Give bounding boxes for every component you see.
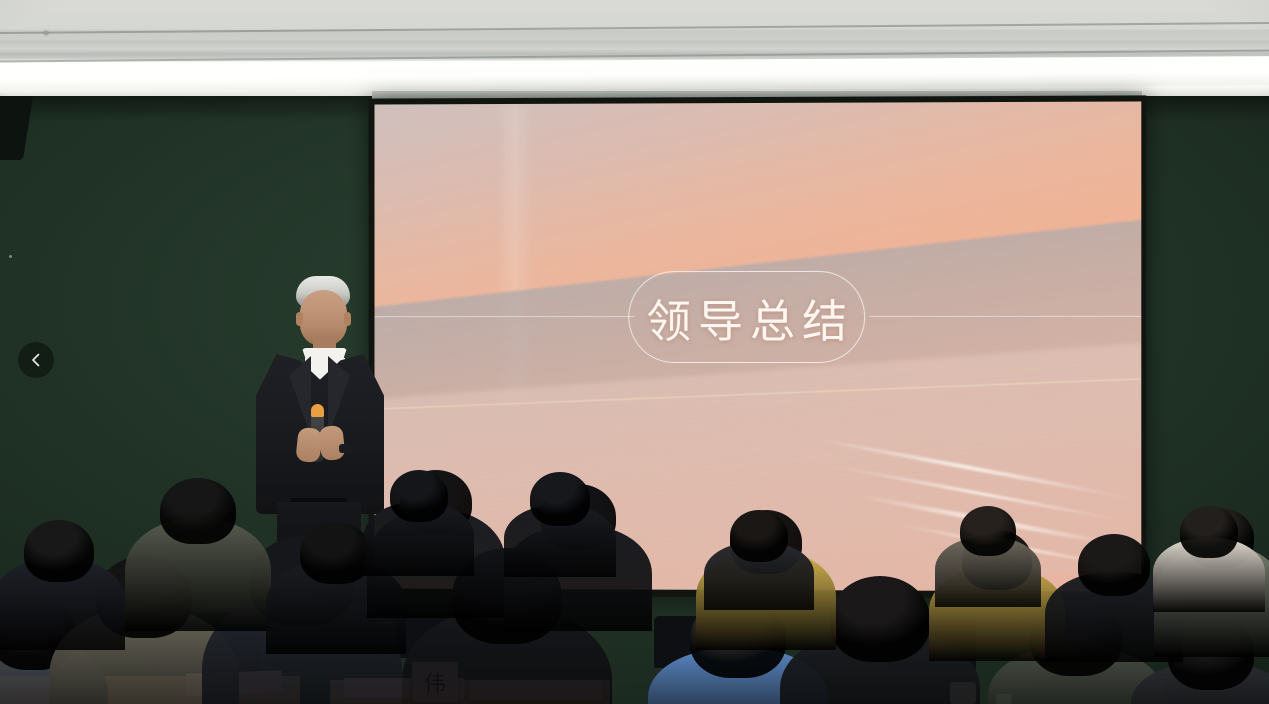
title-rule-left: [374, 316, 634, 317]
presenter-ear: [296, 312, 303, 326]
audience-head: [730, 510, 788, 562]
audience-head: [530, 472, 590, 526]
ceiling-fixture-dot: [44, 31, 48, 35]
ceiling-light-strip: [0, 56, 1269, 93]
prev-photo-button[interactable]: [18, 342, 54, 378]
wall-speck: [9, 255, 12, 258]
presenter-hand: [295, 427, 322, 463]
audience-head: [960, 506, 1016, 556]
slide-title-pill: 领导总结: [628, 271, 865, 363]
slide-title: 领导总结: [639, 284, 854, 349]
audience-head: [300, 522, 372, 584]
microphone-head: [311, 404, 324, 417]
audience-head: [390, 470, 448, 522]
audience-head: [160, 478, 236, 544]
audience-head: [1078, 534, 1150, 596]
conference-photo: 领导总结 伟: [0, 0, 1269, 704]
chevron-left-icon: [28, 352, 44, 368]
ceiling: [0, 0, 1269, 104]
title-rule-right: [869, 316, 1141, 317]
presenter-ear: [344, 312, 351, 326]
audience-head: [1180, 506, 1238, 558]
presenter-hand: [318, 425, 345, 461]
presenter-watch: [339, 444, 352, 453]
ceiling-seam: [0, 22, 1269, 34]
audience-head: [24, 520, 94, 582]
audience-head: [830, 576, 930, 662]
